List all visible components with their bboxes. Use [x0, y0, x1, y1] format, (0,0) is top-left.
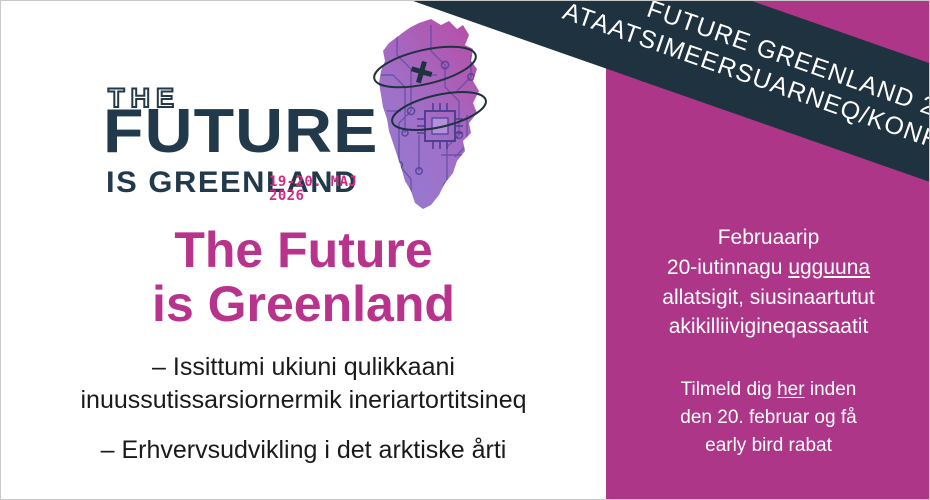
- panel-greenlandic-line-3: allatsigit, siusinaartutut: [614, 283, 923, 313]
- subtitle-danish-line-1: – Erhvervsudvikling i det arktiske årti: [19, 434, 588, 467]
- panel-greenlandic-block: Februaarip 20-iutinnagu ugguuna allatsig…: [614, 223, 923, 342]
- panel-danish-line-1-after: inden: [805, 379, 857, 400]
- panel-greenlandic-line-1: Februaarip: [614, 223, 923, 253]
- subtitle-greenlandic: – Issittumi ukiuni qulikkaani inuussutis…: [1, 351, 606, 416]
- panel-danish-line-1: Tilmeld dig her inden: [614, 376, 923, 404]
- panel-greenlandic-line-2: 20-iutinnagu ugguuna: [614, 253, 923, 283]
- panel-danish-line-2: den 20. februar og få: [614, 404, 923, 432]
- registration-link-danish[interactable]: her: [777, 379, 804, 400]
- panel-danish-line-1-before: Tilmeld dig: [681, 379, 777, 400]
- registration-link-greenlandic[interactable]: ugguuna: [788, 256, 870, 279]
- panel-danish-line-3: early bird rabat: [614, 432, 923, 460]
- panel-content: Februaarip 20-iutinnagu ugguuna allatsig…: [606, 223, 930, 459]
- logo-word-future: FUTURE: [103, 101, 378, 163]
- page-title: The Future is Greenland: [1, 223, 606, 331]
- headline-line-1: The Future: [21, 223, 586, 277]
- subtitle-greenlandic-line-1: – Issittumi ukiuni qulikkaani: [19, 351, 588, 384]
- conference-banner: FUTURE GREENLAND 2026 ATAATSIMEERSUARNEQ…: [0, 0, 930, 500]
- subtitle-greenlandic-line-2: inuussutissarsiornermik ineriartortitsin…: [19, 384, 588, 417]
- headline-line-2: is Greenland: [21, 277, 586, 331]
- panel-greenlandic-line-4: akikilliivigineqassaatit: [614, 312, 923, 342]
- subtitle-danish: – Erhvervsudvikling i det arktiske årti: [1, 434, 606, 467]
- panel-greenlandic-line-2-text: 20-iutinnagu: [667, 256, 788, 279]
- panel-danish-block: Tilmeld dig her inden den 20. februar og…: [614, 376, 923, 459]
- greenland-map-icon: [353, 15, 513, 215]
- main-content-left: The Future is Greenland – Issittumi ukiu…: [1, 223, 606, 467]
